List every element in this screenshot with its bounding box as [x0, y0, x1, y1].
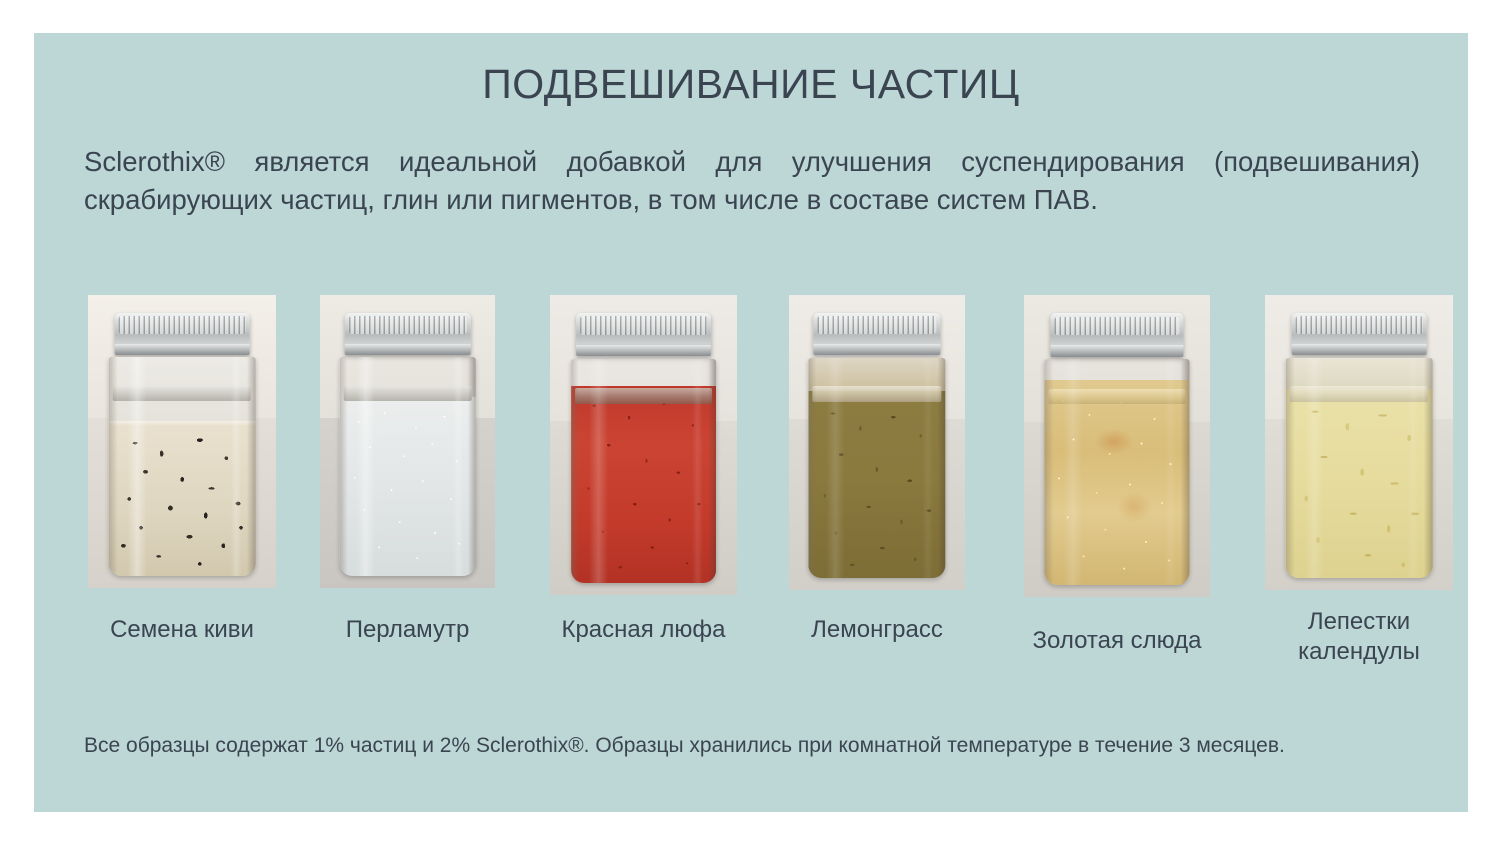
sample-label-2: Красная люфа [561, 615, 725, 645]
jar-lid [1050, 313, 1183, 356]
sample-label-0: Семена киви [110, 615, 254, 645]
sample-jar-row: Семена киви [34, 295, 1468, 715]
sample-item-0: Семена киви [88, 295, 276, 588]
jar-lid [1292, 313, 1427, 355]
sample-photo-lemongrass [789, 295, 965, 590]
sample-photo-kiwi-seeds [88, 295, 276, 588]
jar-lid [345, 313, 471, 355]
sample-label-1: Перламутр [346, 615, 470, 645]
sample-photo-gold-mica [1024, 295, 1210, 597]
sample-label-5: Лепестки календулы [1272, 607, 1447, 667]
slide-root: ПОДВЕШИВАНИЕ ЧАСТИЦ Sclerothix® является… [0, 0, 1500, 844]
jar-lid [576, 313, 710, 356]
sample-item-1: Перламутр [320, 295, 495, 588]
sample-photo-pearlescent [320, 295, 495, 588]
slide-panel: ПОДВЕШИВАНИЕ ЧАСТИЦ Sclerothix® является… [34, 33, 1468, 812]
intro-paragraph: Sclerothix® является идеальной добавкой … [84, 143, 1420, 219]
jar-lid [115, 313, 250, 355]
sample-label-4: Золотая слюда [1033, 626, 1202, 656]
sample-item-5: Лепестки календулы [1265, 295, 1453, 590]
sample-label-3: Лемонграсс [811, 615, 943, 645]
footnote-text: Все образцы содержат 1% частиц и 2% Scle… [84, 731, 1434, 761]
page-title: ПОДВЕШИВАНИЕ ЧАСТИЦ [34, 61, 1468, 108]
sample-item-2: Красная люфа [550, 295, 737, 595]
sample-photo-calendula-petals [1265, 295, 1453, 590]
sample-item-4: Золотая слюда [1024, 295, 1210, 597]
sample-item-3: Лемонграсс [789, 295, 965, 590]
sample-photo-red-luffa [550, 295, 737, 595]
jar-lid [814, 313, 940, 355]
